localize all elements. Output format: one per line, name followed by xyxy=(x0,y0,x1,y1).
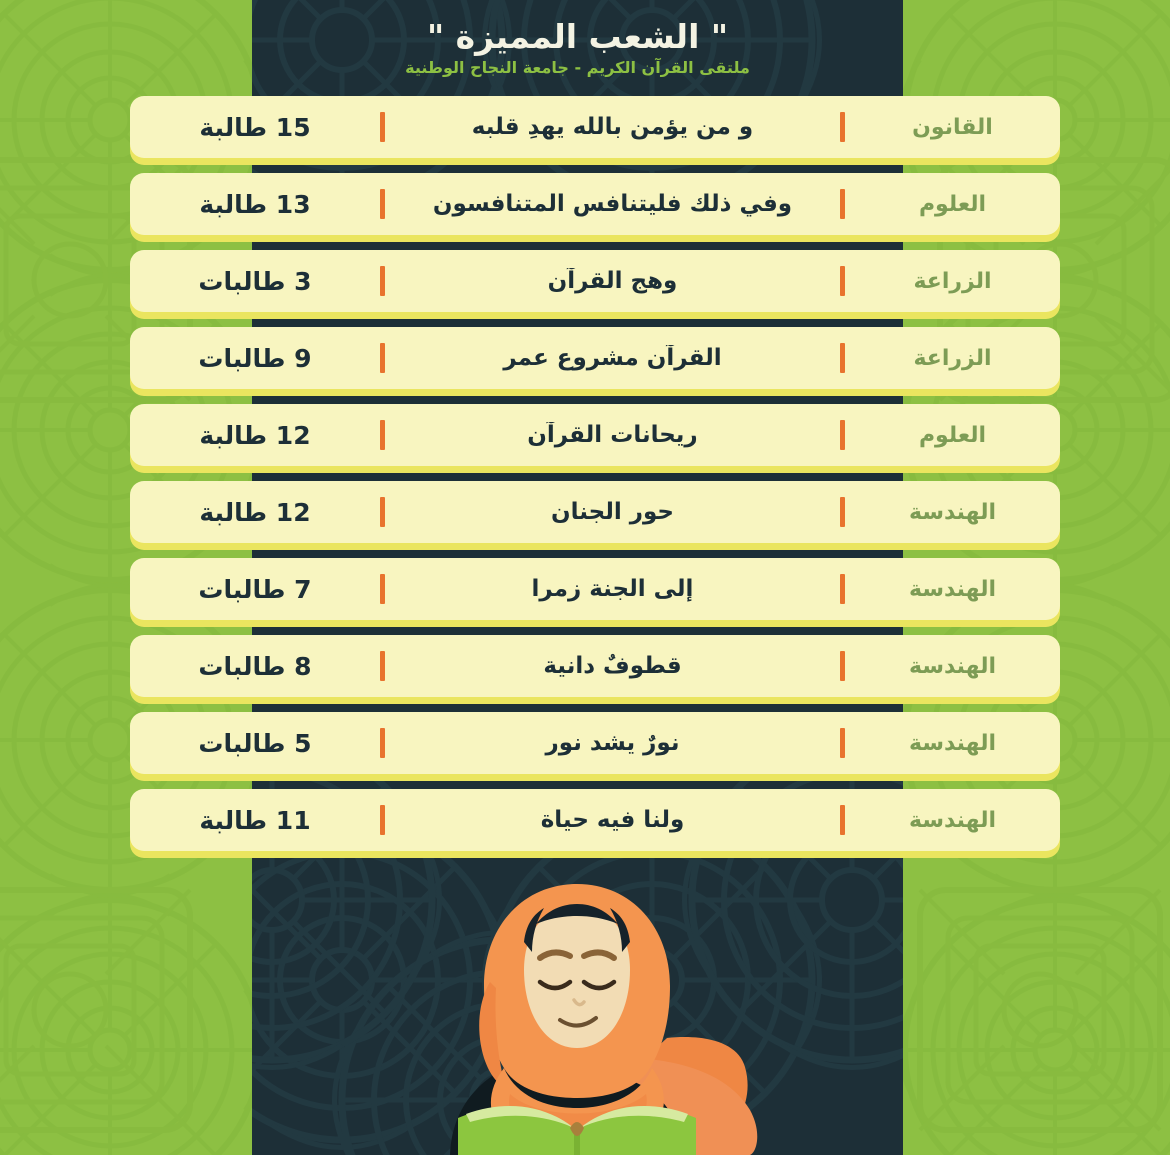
row-faculty: الزراعة xyxy=(845,346,1060,371)
row-student-count: 13 طالبة xyxy=(130,190,380,219)
page-title: " الشعب المميزة " xyxy=(427,19,728,55)
separator-bar xyxy=(840,728,845,758)
row-group-name: ريحانات القرآن xyxy=(385,422,840,448)
separator-bar xyxy=(380,266,385,296)
separator-bar xyxy=(840,497,845,527)
separator-bar xyxy=(840,420,845,450)
row-group-name: ولنا فيه حياة xyxy=(385,807,840,833)
table-row[interactable]: الزراعةوهج القرآن3 طالبات xyxy=(130,250,1060,312)
separator-bar xyxy=(840,266,845,296)
separator-bar xyxy=(380,112,385,142)
table-row[interactable]: الهندسةولنا فيه حياة11 طالبة xyxy=(130,789,1060,851)
separator-bar xyxy=(380,343,385,373)
separator-bar xyxy=(840,112,845,142)
row-faculty: الهندسة xyxy=(845,654,1060,679)
row-student-count: 12 طالبة xyxy=(130,421,380,450)
table-row[interactable]: الهندسةإلى الجنة زمرا7 طالبات xyxy=(130,558,1060,620)
table-row[interactable]: الهندسةنورٌ يشد نور5 طالبات xyxy=(130,712,1060,774)
groups-table: القانونو من يؤمن بالله يهدِ قلبه15 طالبة… xyxy=(130,96,1060,866)
row-student-count: 12 طالبة xyxy=(130,498,380,527)
row-student-count: 5 طالبات xyxy=(130,729,380,758)
row-group-name: وهج القرآن xyxy=(385,268,840,294)
separator-bar xyxy=(840,651,845,681)
row-faculty: الهندسة xyxy=(845,577,1060,602)
separator-bar xyxy=(840,343,845,373)
row-student-count: 15 طالبة xyxy=(130,113,380,142)
row-student-count: 8 طالبات xyxy=(130,652,380,681)
table-row[interactable]: الزراعةالقرآن مشروع عمر9 طالبات xyxy=(130,327,1060,389)
header: " الشعب المميزة " ملتقى القرآن الكريم - … xyxy=(252,0,903,96)
row-faculty: الهندسة xyxy=(845,808,1060,833)
row-student-count: 9 طالبات xyxy=(130,344,380,373)
table-row[interactable]: العلومريحانات القرآن12 طالبة xyxy=(130,404,1060,466)
row-faculty: العلوم xyxy=(845,192,1060,217)
row-group-name: وفي ذلك فليتنافس المتنافسون xyxy=(385,191,840,217)
separator-bar xyxy=(380,420,385,450)
page-subtitle: ملتقى القرآن الكريم - جامعة النجاح الوطن… xyxy=(405,59,750,77)
table-row[interactable]: العلوموفي ذلك فليتنافس المتنافسون13 طالب… xyxy=(130,173,1060,235)
row-group-name: القرآن مشروع عمر xyxy=(385,345,840,371)
row-faculty: الهندسة xyxy=(845,731,1060,756)
row-student-count: 11 طالبة xyxy=(130,806,380,835)
separator-bar xyxy=(840,189,845,219)
separator-bar xyxy=(380,497,385,527)
row-faculty: القانون xyxy=(845,115,1060,140)
separator-bar xyxy=(380,805,385,835)
row-group-name: نورٌ يشد نور xyxy=(385,730,840,756)
row-faculty: الهندسة xyxy=(845,500,1060,525)
separator-bar xyxy=(840,805,845,835)
table-row[interactable]: القانونو من يؤمن بالله يهدِ قلبه15 طالبة xyxy=(130,96,1060,158)
separator-bar xyxy=(380,189,385,219)
separator-bar xyxy=(380,574,385,604)
row-group-name: و من يؤمن بالله يهدِ قلبه xyxy=(385,114,840,140)
separator-bar xyxy=(840,574,845,604)
row-faculty: العلوم xyxy=(845,423,1060,448)
separator-bar xyxy=(380,651,385,681)
row-faculty: الزراعة xyxy=(845,269,1060,294)
row-group-name: قطوفٌ دانية xyxy=(385,653,840,679)
reading-woman-illustration xyxy=(252,862,903,1155)
row-group-name: حور الجنان xyxy=(385,499,840,525)
separator-bar xyxy=(380,728,385,758)
table-row[interactable]: الهندسةقطوفٌ دانية8 طالبات xyxy=(130,635,1060,697)
row-student-count: 3 طالبات xyxy=(130,267,380,296)
table-row[interactable]: الهندسةحور الجنان12 طالبة xyxy=(130,481,1060,543)
row-student-count: 7 طالبات xyxy=(130,575,380,604)
row-group-name: إلى الجنة زمرا xyxy=(385,576,840,602)
